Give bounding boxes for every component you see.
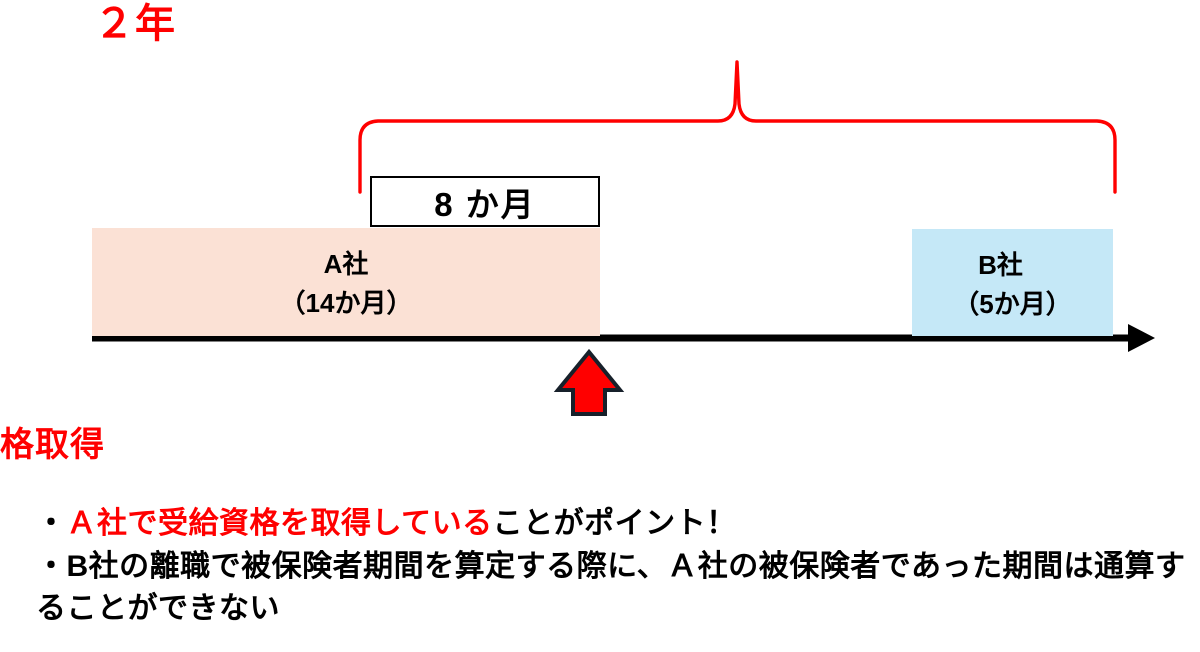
qualification-arrow-icon — [558, 352, 620, 414]
eight-months-box: 8 か月 — [370, 176, 600, 227]
two-year-span-label: ２年 — [0, 2, 735, 47]
note-1-highlight: Ａ社で受給資格を取得している — [67, 507, 493, 540]
note-line-1: ・Ａ社で受給資格を取得していることがポイント！ — [36, 503, 1186, 546]
company-a-duration: （14か月） — [280, 283, 413, 320]
note-2-text: B社の離職で被保険者期間を算定する際に、Ａ社の被保険者であった期間は通算すること… — [36, 550, 1185, 626]
note-line-2: ・B社の離職で被保険者期間を算定する際に、Ａ社の被保険者であった期間は通算するこ… — [36, 546, 1186, 631]
notes-block: ・Ａ社で受給資格を取得していることがポイント！ ・B社の離職で被保険者期間を算定… — [36, 503, 1186, 631]
two-year-brace — [360, 62, 1115, 192]
eight-months-label: 8 か月 — [434, 178, 536, 226]
company-a-name: A社 — [324, 244, 369, 281]
company-a-bar: A社 （14か月） — [92, 228, 600, 336]
note-bullet-1: ・ — [36, 507, 67, 540]
diagram-canvas: ２年 8 か月 A社 （14か月） B社 （5か月） 受給資格取得 ・Ａ社で受給… — [0, 0, 1200, 652]
company-b-name: B社 — [978, 245, 1023, 282]
qualification-acquisition-label: 受給資格取得 — [0, 426, 590, 464]
note-1-tail: ことがポイント！ — [493, 507, 737, 540]
note-bullet-2: ・ — [36, 550, 67, 583]
company-b-duration: （5か月） — [953, 284, 1071, 321]
company-b-bar: B社 （5か月） — [912, 229, 1113, 336]
